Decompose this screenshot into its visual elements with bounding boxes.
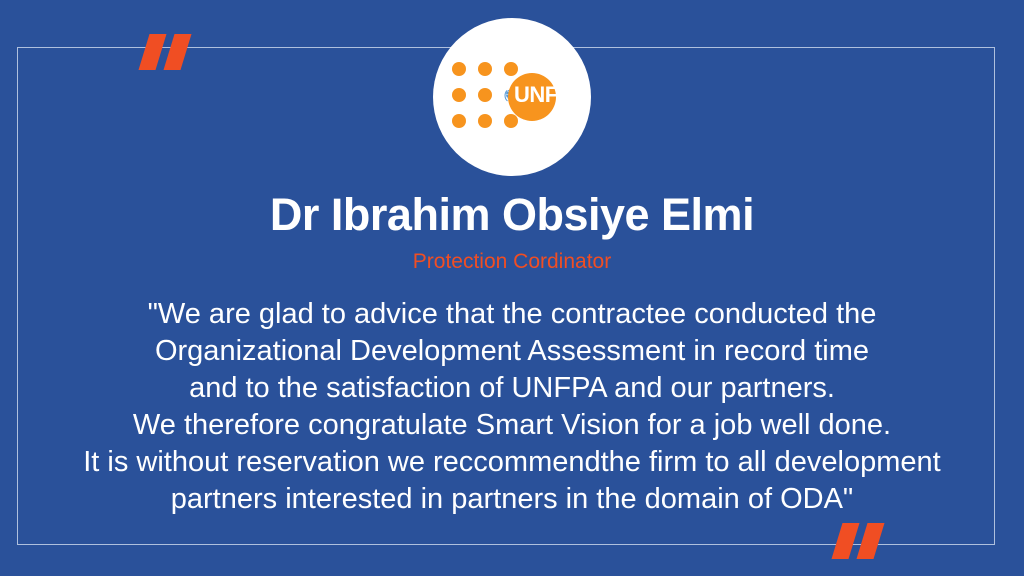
logo-dot: [478, 88, 492, 102]
quote-bar: [856, 523, 884, 559]
quote-line: and to the satisfaction of UNFPA and our…: [30, 370, 994, 407]
logo-dot: [478, 114, 492, 128]
quote-bar: [831, 523, 859, 559]
logo-dot: [504, 62, 518, 76]
quotation-mark-icon-bottom-right: [833, 523, 887, 559]
quote-bar: [163, 34, 191, 70]
quote-line: We therefore congratulate Smart Vision f…: [30, 407, 994, 444]
logo-dot: [452, 114, 466, 128]
logo-dot: [452, 62, 466, 76]
quote-line: "We are glad to advice that the contract…: [30, 296, 994, 333]
testimonial-quote: "We are glad to advice that the contract…: [30, 296, 994, 518]
logo-dot: [452, 88, 466, 102]
quote-line: It is without reservation we reccommendt…: [30, 444, 994, 481]
quote-line: Organizational Development Assessment in…: [30, 333, 994, 370]
person-role: Protection Cordinator: [0, 251, 1024, 272]
quotation-mark-icon-top-left: [140, 34, 194, 70]
person-name: Dr Ibrahim Obsiye Elmi: [0, 192, 1024, 237]
logo-dot: [478, 62, 492, 76]
unfpa-logo: UNFPA: [452, 62, 576, 132]
testimonial-slide: UNFPA Dr Ibrahim Obsiye Elmi Protection …: [0, 0, 1024, 576]
unfpa-wordmark: UNFPA: [514, 84, 586, 106]
logo-dot: [504, 114, 518, 128]
quote-line: partners interested in partners in the d…: [30, 481, 994, 518]
quote-bar: [138, 34, 166, 70]
unfpa-logo-badge: UNFPA: [433, 18, 591, 176]
